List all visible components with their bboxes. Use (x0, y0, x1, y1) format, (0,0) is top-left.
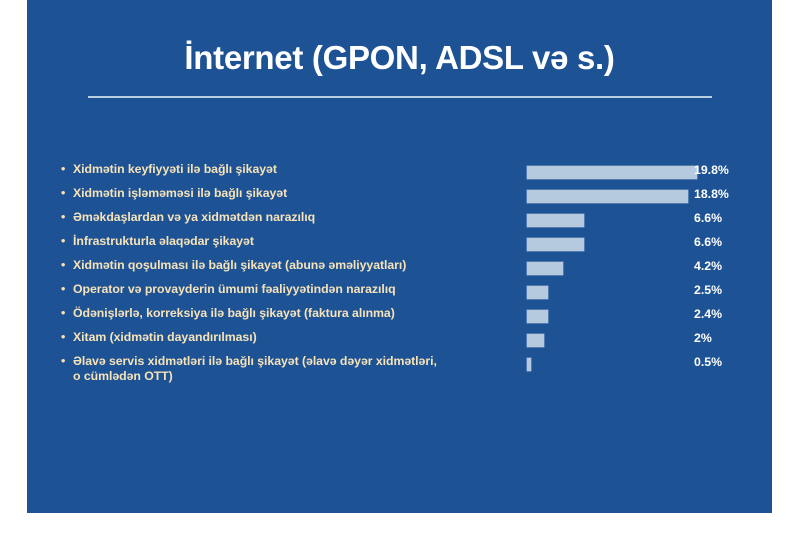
bar-category-label-line: Əlavə servis xidmətləri ilə bağlı şikayə… (73, 354, 511, 369)
bar-value-label: 2% (694, 331, 764, 346)
bar-track (527, 238, 697, 251)
bar-track (527, 166, 697, 179)
bar-track (527, 190, 697, 203)
bar-value-label: 18.8% (694, 187, 764, 202)
bar-fill (527, 238, 584, 251)
bar-value-label: 4.2% (694, 259, 764, 274)
chart-row: •Əməkdaşlardan və ya xidmətdən narazılıq… (27, 210, 772, 234)
chart-row: •Operator və provayderin ümumi fəaliyyət… (27, 282, 772, 306)
bar-category-label: •Əməkdaşlardan və ya xidmətdən narazılıq (61, 210, 511, 225)
bar-category-label: •Operator və provayderin ümumi fəaliyyət… (61, 282, 511, 297)
chart-row: •Xitam (xidmətin dayandırılması)2% (27, 330, 772, 354)
bullet-icon: • (61, 258, 71, 273)
slide-canvas: İnternet (GPON, ADSL və s.) •Xidmətin ke… (0, 0, 800, 546)
bar-value-label: 2.5% (694, 283, 764, 298)
bar-value-label: 0.5% (694, 355, 764, 370)
bar-category-label: •Xidmətin işləməməsi ilə bağlı şikayət (61, 186, 511, 201)
bar-category-label-line: İnfrastrukturla əlaqədar şikayət (73, 234, 511, 249)
bar-category-label: •Ödənişlərlə, korreksiya ilə bağlı şikay… (61, 306, 511, 321)
slide-panel: İnternet (GPON, ADSL və s.) •Xidmətin ke… (27, 0, 772, 513)
bullet-icon: • (61, 354, 71, 369)
bullet-icon: • (61, 210, 71, 225)
bar-category-label: •İnfrastrukturla əlaqədar şikayət (61, 234, 511, 249)
horizontal-bar-chart: •Xidmətin keyfiyyəti ilə bağlı şikayət19… (27, 162, 772, 412)
bullet-icon: • (61, 282, 71, 297)
bar-track (527, 334, 697, 347)
bullet-icon: • (61, 330, 71, 345)
bar-fill (527, 190, 688, 203)
chart-row: •İnfrastrukturla əlaqədar şikayət6.6% (27, 234, 772, 258)
bar-track (527, 262, 697, 275)
chart-row: •Xidmətin keyfiyyəti ilə bağlı şikayət19… (27, 162, 772, 186)
bar-track (527, 358, 697, 371)
bar-category-label-line: Xidmətin işləməməsi ilə bağlı şikayət (73, 186, 511, 201)
bar-category-label-line: o cümlədən OTT) (73, 369, 511, 384)
chart-row: •Xidmətin işləməməsi ilə bağlı şikayət18… (27, 186, 772, 210)
title-divider (88, 96, 712, 98)
bar-category-label-line: Xidmətin keyfiyyəti ilə bağlı şikayət (73, 162, 511, 177)
bar-fill (527, 310, 548, 323)
bar-track (527, 310, 697, 323)
bar-category-label: •Xitam (xidmətin dayandırılması) (61, 330, 511, 345)
bullet-icon: • (61, 162, 71, 177)
bar-fill (527, 334, 544, 347)
bar-value-label: 2.4% (694, 307, 764, 322)
bullet-icon: • (61, 306, 71, 321)
bar-category-label-line: Xidmətin qoşulması ilə bağlı şikayət (ab… (73, 258, 511, 273)
bar-category-label: •Xidmətin keyfiyyəti ilə bağlı şikayət (61, 162, 511, 177)
chart-row: •Ödənişlərlə, korreksiya ilə bağlı şikay… (27, 306, 772, 330)
bullet-icon: • (61, 186, 71, 201)
chart-row: •Əlavə servis xidmətləri ilə bağlı şikay… (27, 354, 772, 378)
bar-value-label: 6.6% (694, 211, 764, 226)
bar-track (527, 286, 697, 299)
bar-fill (527, 286, 548, 299)
page-title: İnternet (GPON, ADSL və s.) (27, 38, 772, 78)
bar-category-label: •Əlavə servis xidmətləri ilə bağlı şikay… (61, 354, 511, 384)
bullet-icon: • (61, 234, 71, 249)
bar-track (527, 214, 697, 227)
bar-category-label-line: Operator və provayderin ümumi fəaliyyəti… (73, 282, 511, 297)
bar-value-label: 19.8% (694, 163, 764, 178)
bar-value-label: 6.6% (694, 235, 764, 250)
bar-category-label-line: Ödənişlərlə, korreksiya ilə bağlı şikayə… (73, 306, 511, 321)
bar-category-label-line: Xitam (xidmətin dayandırılması) (73, 330, 511, 345)
bar-fill (527, 166, 697, 179)
bar-fill (527, 262, 563, 275)
bar-category-label: •Xidmətin qoşulması ilə bağlı şikayət (a… (61, 258, 511, 273)
bar-fill (527, 214, 584, 227)
bar-fill (527, 358, 531, 371)
bar-category-label-line: Əməkdaşlardan və ya xidmətdən narazılıq (73, 210, 511, 225)
chart-row: •Xidmətin qoşulması ilə bağlı şikayət (a… (27, 258, 772, 282)
